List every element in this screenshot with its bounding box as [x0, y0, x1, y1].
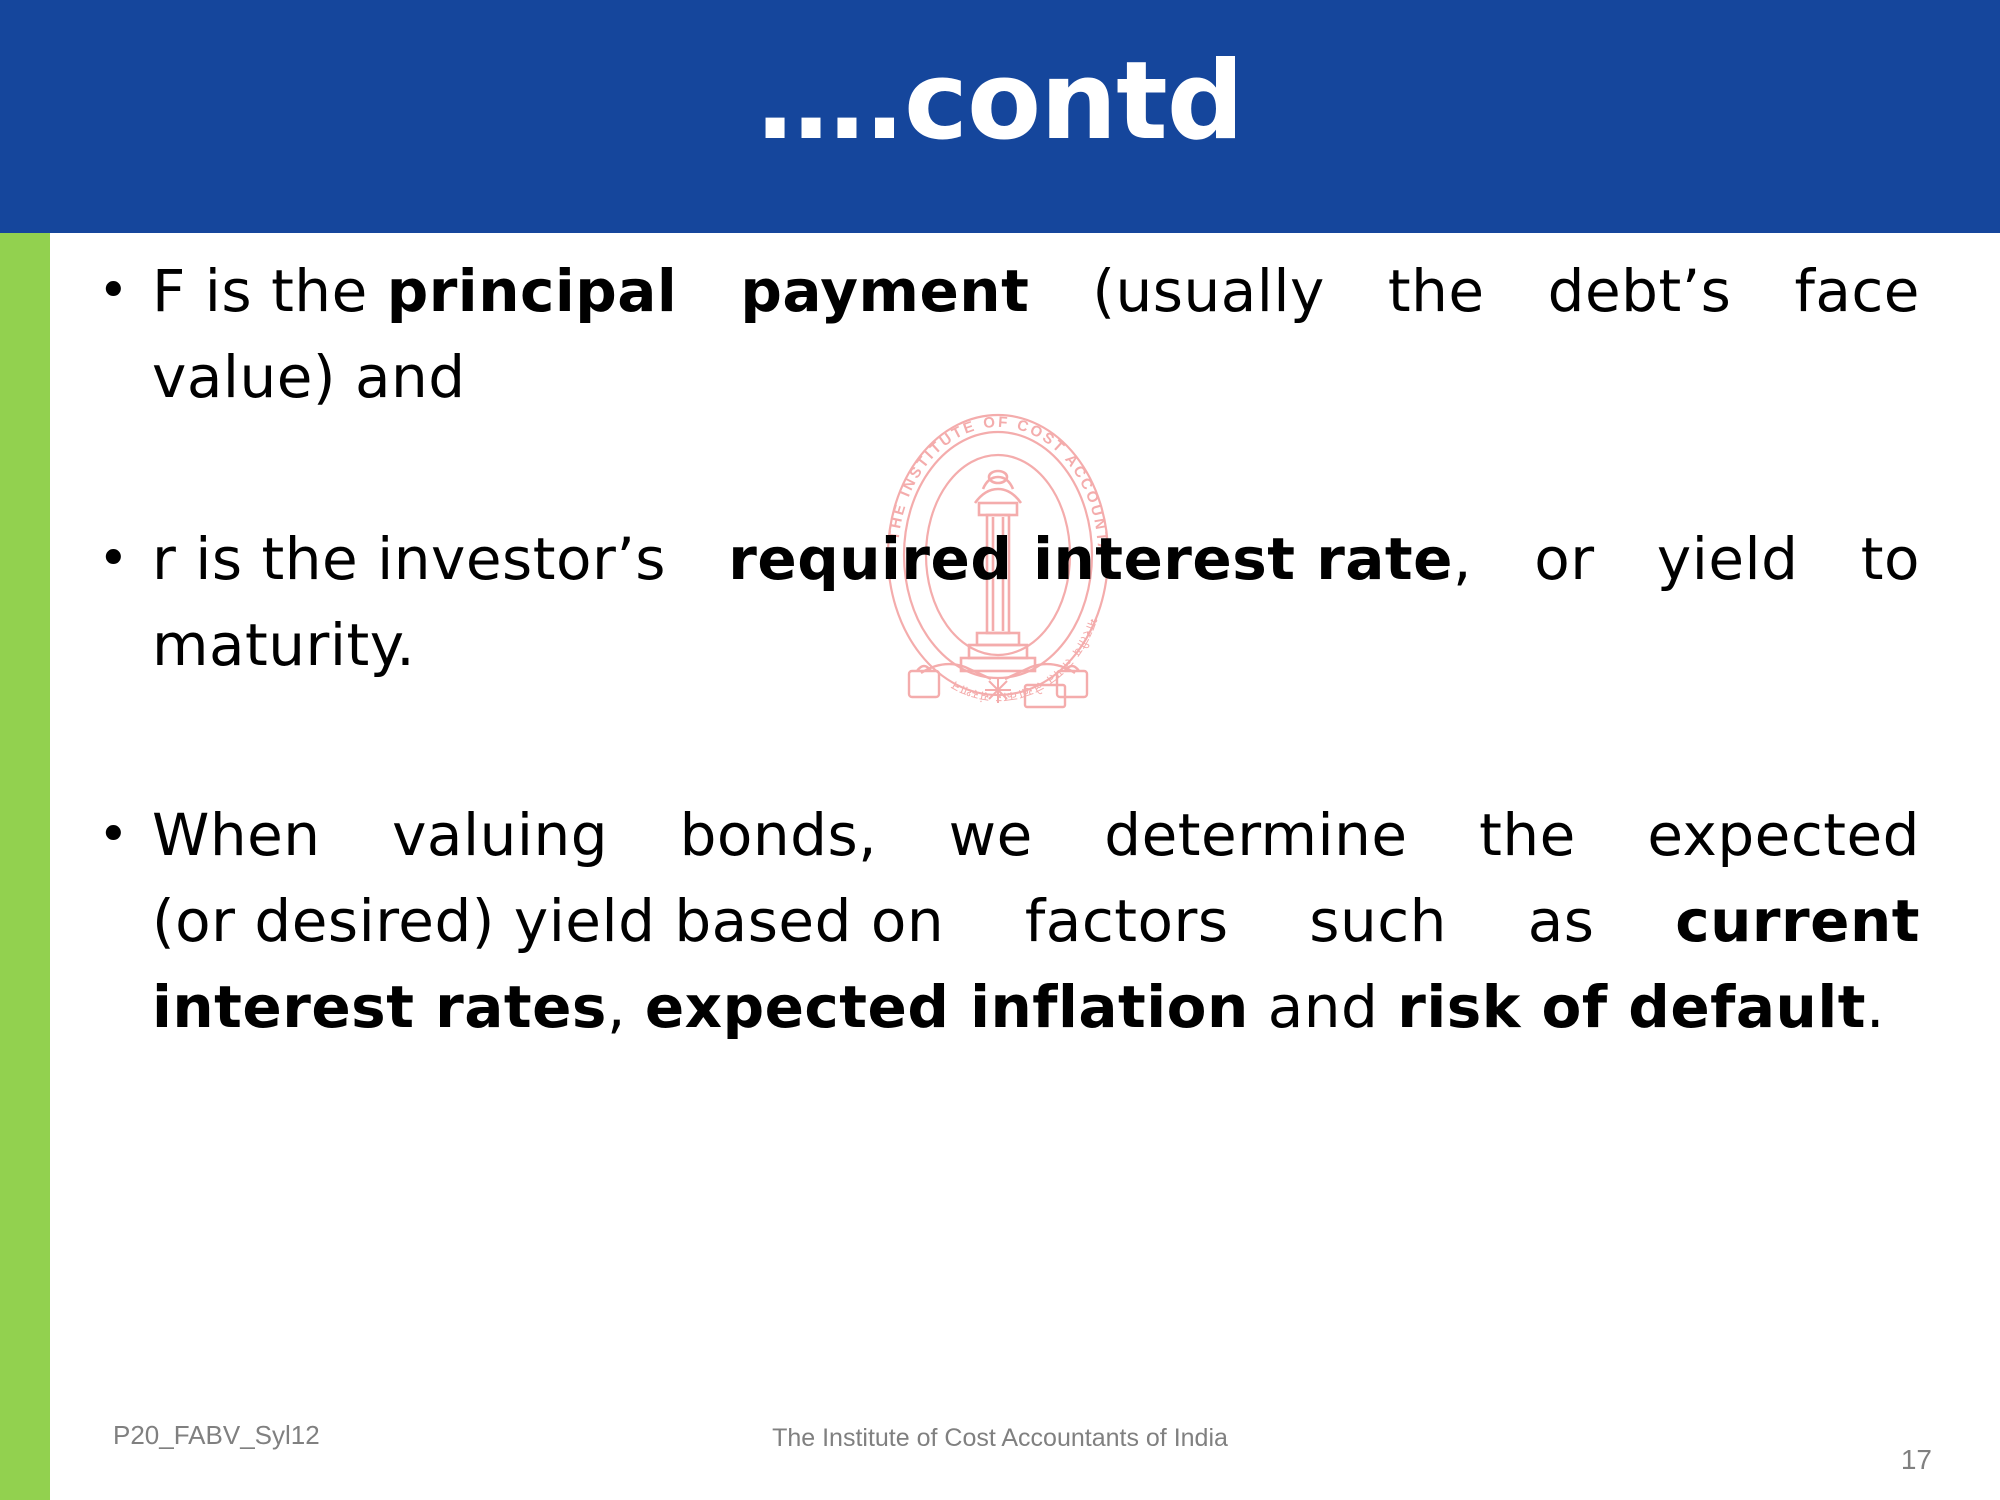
bullet-text: Whenvaluingbonds,wedeterminetheexpected …: [152, 792, 1920, 1050]
bullet-line: r is the investor’srequired interest rat…: [152, 516, 1920, 602]
title-band: ….contd: [0, 0, 2000, 233]
bullet-valuing-bonds: • Whenvaluingbonds,wedeterminetheexpecte…: [80, 792, 1920, 1050]
spacer: [80, 420, 1920, 516]
slide-body: • F is the principalpayment(usuallythede…: [80, 248, 1920, 1048]
left-accent-bar: [0, 233, 50, 1500]
bullet-marker-icon: •: [80, 516, 152, 602]
slide-canvas: ….contd THE INSTITUTE OF COST ACCOUNTANT…: [0, 0, 2000, 1500]
bullet-line: maturity.: [152, 602, 1920, 688]
slide-footer: P20_FABV_Syl12 The Institute of Cost Acc…: [0, 1420, 2000, 1500]
bullet-marker-icon: •: [80, 248, 152, 334]
bullet-required-interest-rate: • r is the investor’srequired interest r…: [80, 516, 1920, 688]
bullet-line: (or desired) yield based onfactorssuchas…: [152, 878, 1920, 964]
bullet-line: F is the principalpayment(usuallythedebt…: [152, 248, 1920, 334]
bullet-line: Whenvaluingbonds,wedeterminetheexpected: [152, 792, 1920, 878]
spacer: [80, 688, 1920, 792]
bullet-line: interest rates, expected inflation and r…: [152, 964, 1920, 1050]
slide-page-number: 17: [1901, 1444, 1932, 1476]
bullet-principal-payment: • F is the principalpayment(usuallythede…: [80, 248, 1920, 420]
bullet-text: r is the investor’srequired interest rat…: [152, 516, 1920, 688]
page-title: ….contd: [0, 48, 2000, 156]
bullet-text: F is the principalpayment(usuallythedebt…: [152, 248, 1920, 420]
footer-organization: The Institute of Cost Accountants of Ind…: [0, 1424, 2000, 1453]
bullet-line: value) and: [152, 334, 1920, 420]
bullet-marker-icon: •: [80, 792, 152, 878]
